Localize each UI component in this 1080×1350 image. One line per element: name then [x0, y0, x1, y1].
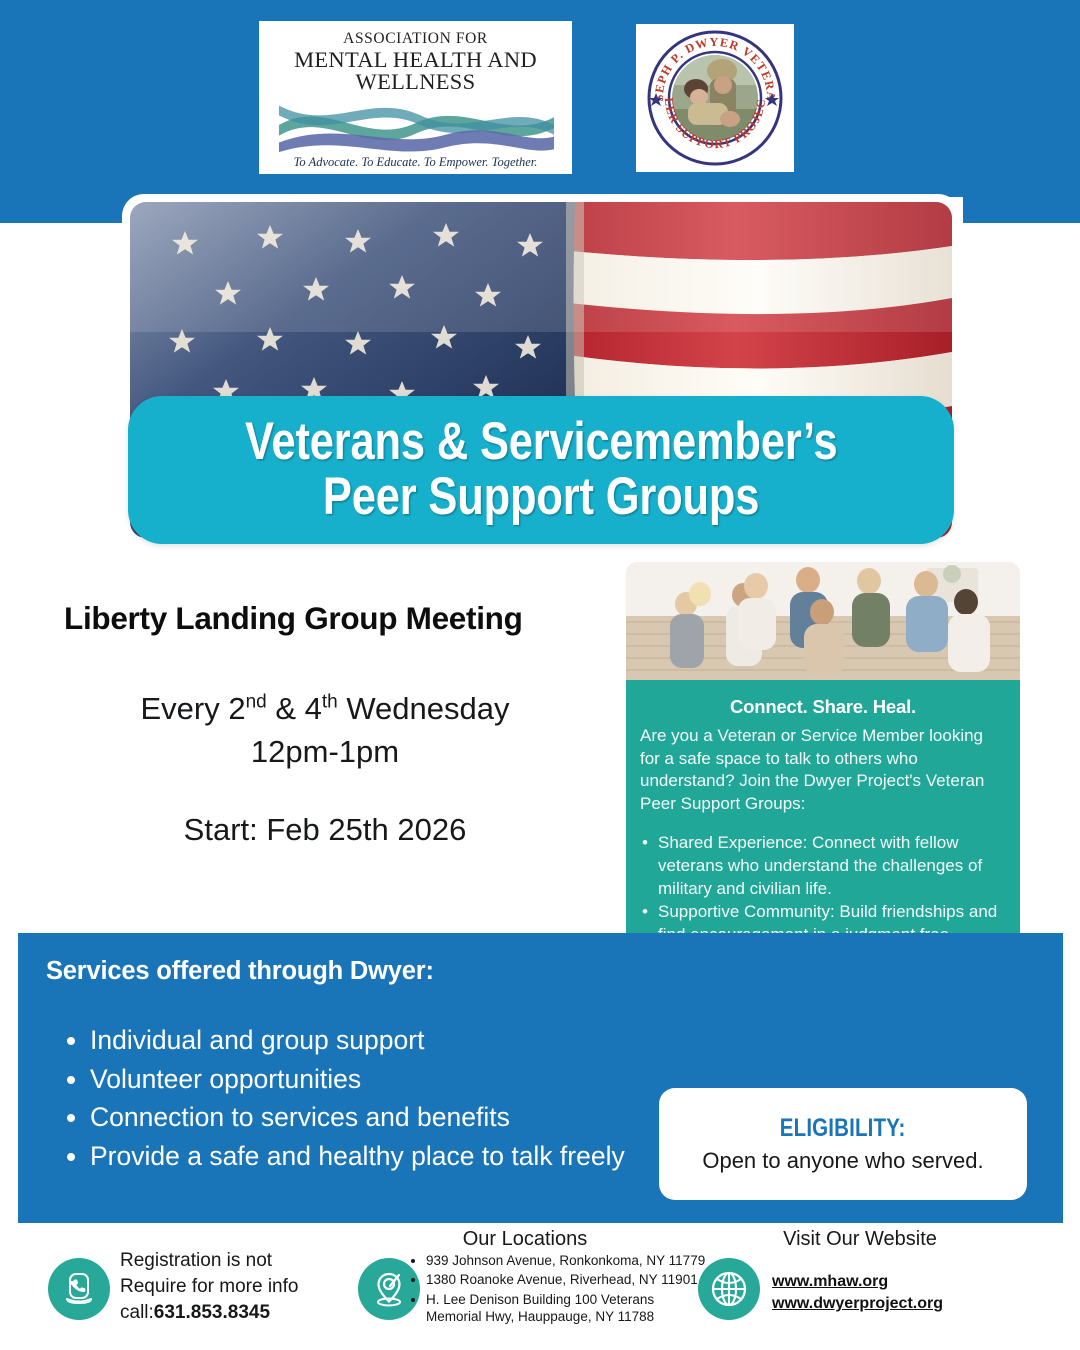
meeting-time: 12pm-1pm [40, 731, 610, 774]
list-item: Provide a safe and healthy place to talk… [90, 1138, 630, 1175]
sched-sup2: th [322, 692, 338, 713]
mhaw-logo-tagline: To Advocate. To Educate. To Empower. Tog… [294, 156, 538, 169]
sched-prefix: Every 2 [140, 691, 245, 726]
eligibility-title: ELIGIBILITY: [780, 1114, 906, 1143]
list-item: H. Lee Denison Building 100 Veterans Mem… [426, 1291, 706, 1326]
registration-line1: Registration is not [120, 1248, 330, 1274]
locations-list: 939 Johnson Avenue, Ronkonkoma, NY 11779… [410, 1252, 706, 1327]
mhaw-logo-line1: ASSOCIATION FOR [343, 31, 488, 47]
description-spacer [640, 815, 1006, 832]
registration-info: Registration is not Require for more inf… [120, 1248, 330, 1327]
meeting-start-date: Start: Feb 25th 2026 [40, 812, 610, 848]
dwyer-seal-icon: JOSEPH P. DWYER VETERANS PEER SUPPORT PR… [644, 27, 786, 169]
meeting-schedule: Every 2nd & 4th Wednesday 12pm-1pm [40, 688, 610, 774]
globe-icon-glyph [708, 1268, 750, 1310]
list-item: Shared Experience: Connect with fellow v… [640, 832, 1006, 900]
eligibility-card: ELIGIBILITY: Open to anyone who served. [659, 1088, 1027, 1200]
location-pin-icon-glyph [369, 1269, 409, 1309]
hero-title-banner: Veterans & Servicemember’s Peer Support … [128, 396, 954, 544]
sched-sup1: nd [246, 692, 267, 713]
services-title: Services offered through Dwyer: [46, 957, 434, 986]
dwyer-seal-logo: JOSEPH P. DWYER VETERANS PEER SUPPORT PR… [636, 24, 794, 172]
call-label: call: [120, 1302, 154, 1323]
description-paragraph: Are you a Veteran or Service Member look… [640, 725, 1006, 815]
waves-icon [271, 96, 560, 156]
sched-suffix: Wednesday [338, 691, 510, 726]
support-group-photo [626, 562, 1020, 682]
hero-title-line2: Peer Support Groups [323, 470, 759, 525]
list-item: 939 Johnson Avenue, Ronkonkoma, NY 11779 [426, 1252, 706, 1269]
phone-booth-icon-glyph [59, 1269, 99, 1309]
support-group-photo-graphic [626, 562, 1020, 682]
header-band-right-wing [963, 197, 1080, 223]
eligibility-body: Open to anyone who served. [702, 1148, 983, 1175]
logo-row: ASSOCIATION FOR MENTAL HEALTH AND WELLNE… [0, 0, 1080, 197]
website-link-dwyer[interactable]: www.dwyerproject.org [772, 1293, 1032, 1315]
website-title: Visit Our Website [690, 1228, 1030, 1251]
mhaw-logo: ASSOCIATION FOR MENTAL HEALTH AND WELLNE… [259, 21, 572, 174]
website-links: www.mhaw.org www.dwyerproject.org [772, 1271, 1032, 1316]
list-item: Volunteer opportunities [90, 1061, 630, 1098]
services-list: Individual and group support Volunteer o… [60, 1022, 630, 1176]
sched-mid: & 4 [267, 691, 322, 726]
locations-title: Our Locations [355, 1228, 695, 1251]
registration-line2: Require for more info [120, 1274, 330, 1300]
list-item: Individual and group support [90, 1022, 630, 1059]
list-item: 1380 Roanoke Avenue, Riverhead, NY 11901 [426, 1271, 706, 1288]
registration-call-line: call:631.853.8345 [120, 1300, 330, 1326]
phone-icon [48, 1258, 110, 1320]
meeting-title: Liberty Landing Group Meeting [64, 600, 604, 637]
flyer-page: ASSOCIATION FOR MENTAL HEALTH AND WELLNE… [0, 0, 1080, 1350]
hero-title-line1: Veterans & Servicemember’s [245, 415, 837, 470]
meeting-schedule-day: Every 2nd & 4th Wednesday [40, 688, 610, 731]
list-item: Connection to services and benefits [90, 1099, 630, 1136]
phone-number[interactable]: 631.853.8345 [154, 1302, 270, 1323]
mhaw-logo-line2: MENTAL HEALTH AND WELLNESS [271, 49, 560, 94]
description-heading: Connect. Share. Heal. [640, 696, 1006, 718]
description-bullet-1: Shared Experience: Connect with fellow v… [640, 832, 1006, 900]
website-link-mhaw[interactable]: www.mhaw.org [772, 1271, 1032, 1293]
globe-icon [698, 1258, 760, 1320]
